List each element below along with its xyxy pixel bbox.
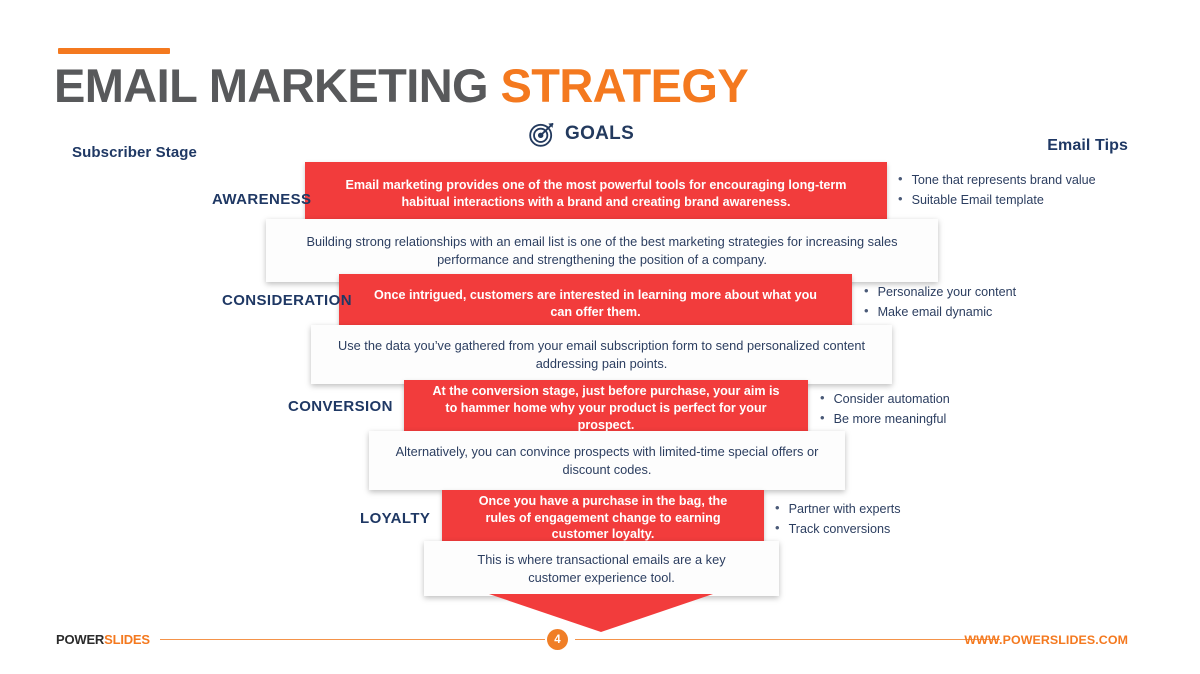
- bullet-icon: •: [775, 501, 780, 516]
- funnel-band-detail-4[interactable]: This is where transactional emails are a…: [424, 541, 779, 596]
- stage-label-conversion: CONVERSION: [288, 398, 393, 415]
- bullet-icon: •: [820, 391, 825, 406]
- page-number-badge: 4: [547, 629, 568, 650]
- tip-text: Make email dynamic: [878, 304, 993, 320]
- stage-label-loyalty: LOYALTY: [360, 510, 430, 527]
- funnel-band-goal-4[interactable]: Once you have a purchase in the bag, the…: [442, 490, 764, 546]
- tips-group-loyalty: • Partner with experts • Track conversio…: [775, 501, 901, 542]
- stage-label-consideration: CONSIDERATION: [222, 292, 352, 309]
- funnel-band-goal-1[interactable]: Email marketing provides one of the most…: [305, 162, 887, 226]
- tip-item: • Be more meaningful: [820, 411, 950, 427]
- funnel-band-detail-1[interactable]: Building strong relationships with an em…: [266, 219, 938, 282]
- tips-group-awareness: • Tone that represents brand value • Sui…: [898, 172, 1096, 213]
- bullet-icon: •: [898, 172, 903, 187]
- powerslides-logo: POWERSLIDES: [56, 632, 150, 647]
- funnel-band-goal-4-text: Once you have a purchase in the bag, the…: [442, 493, 764, 543]
- funnel-band-detail-4-text: This is where transactional emails are a…: [424, 551, 779, 585]
- tip-text: Track conversions: [789, 521, 891, 537]
- tip-text: Tone that represents brand value: [912, 172, 1096, 188]
- tip-item: • Suitable Email template: [898, 192, 1096, 208]
- funnel-band-detail-3[interactable]: Alternatively, you can convince prospect…: [369, 431, 845, 490]
- tip-text: Personalize your content: [878, 284, 1017, 300]
- tips-group-conversion: • Consider automation • Be more meaningf…: [820, 391, 950, 432]
- brand-orange-text: SLIDES: [104, 632, 150, 647]
- funnel-band-goal-3[interactable]: At the conversion stage, just before pur…: [404, 380, 808, 437]
- slide-footer: POWERSLIDES 4 WWW.POWERSLIDES.COM: [0, 618, 1200, 674]
- bullet-icon: •: [864, 284, 869, 299]
- tip-text: Consider automation: [834, 391, 950, 407]
- tip-text: Partner with experts: [789, 501, 901, 517]
- tip-item: • Personalize your content: [864, 284, 1016, 300]
- tip-item: • Partner with experts: [775, 501, 901, 517]
- stage-label-awareness: AWARENESS: [212, 191, 311, 208]
- bullet-icon: •: [775, 521, 780, 536]
- funnel-band-detail-1-text: Building strong relationships with an em…: [266, 233, 938, 267]
- slide-canvas: EMAIL MARKETING STRATEGY GOALS Subscribe…: [0, 0, 1200, 674]
- bullet-icon: •: [820, 411, 825, 426]
- footer-divider-left: [160, 639, 545, 640]
- tip-item: • Tone that represents brand value: [898, 172, 1096, 188]
- tip-item: • Consider automation: [820, 391, 950, 407]
- funnel-band-goal-1-text: Email marketing provides one of the most…: [305, 177, 887, 210]
- tip-text: Suitable Email template: [912, 192, 1044, 208]
- brand-dark-text: POWER: [56, 632, 104, 647]
- funnel-band-detail-3-text: Alternatively, you can convince prospect…: [369, 443, 845, 477]
- tip-item: • Make email dynamic: [864, 304, 1016, 320]
- tips-group-consideration: • Personalize your content • Make email …: [864, 284, 1016, 325]
- bullet-icon: •: [864, 304, 869, 319]
- funnel-band-goal-2-text: Once intrigued, customers are interested…: [339, 287, 852, 320]
- tip-item: • Track conversions: [775, 521, 901, 537]
- footer-divider-right: [575, 639, 1000, 640]
- funnel-diagram: Email marketing provides one of the most…: [0, 0, 1200, 674]
- website-url[interactable]: WWW.POWERSLIDES.COM: [964, 633, 1128, 647]
- funnel-band-detail-2[interactable]: Use the data you’ve gathered from your e…: [311, 325, 892, 384]
- tip-text: Be more meaningful: [834, 411, 947, 427]
- bullet-icon: •: [898, 192, 903, 207]
- funnel-band-goal-3-text: At the conversion stage, just before pur…: [404, 383, 808, 433]
- funnel-band-detail-2-text: Use the data you’ve gathered from your e…: [311, 337, 892, 371]
